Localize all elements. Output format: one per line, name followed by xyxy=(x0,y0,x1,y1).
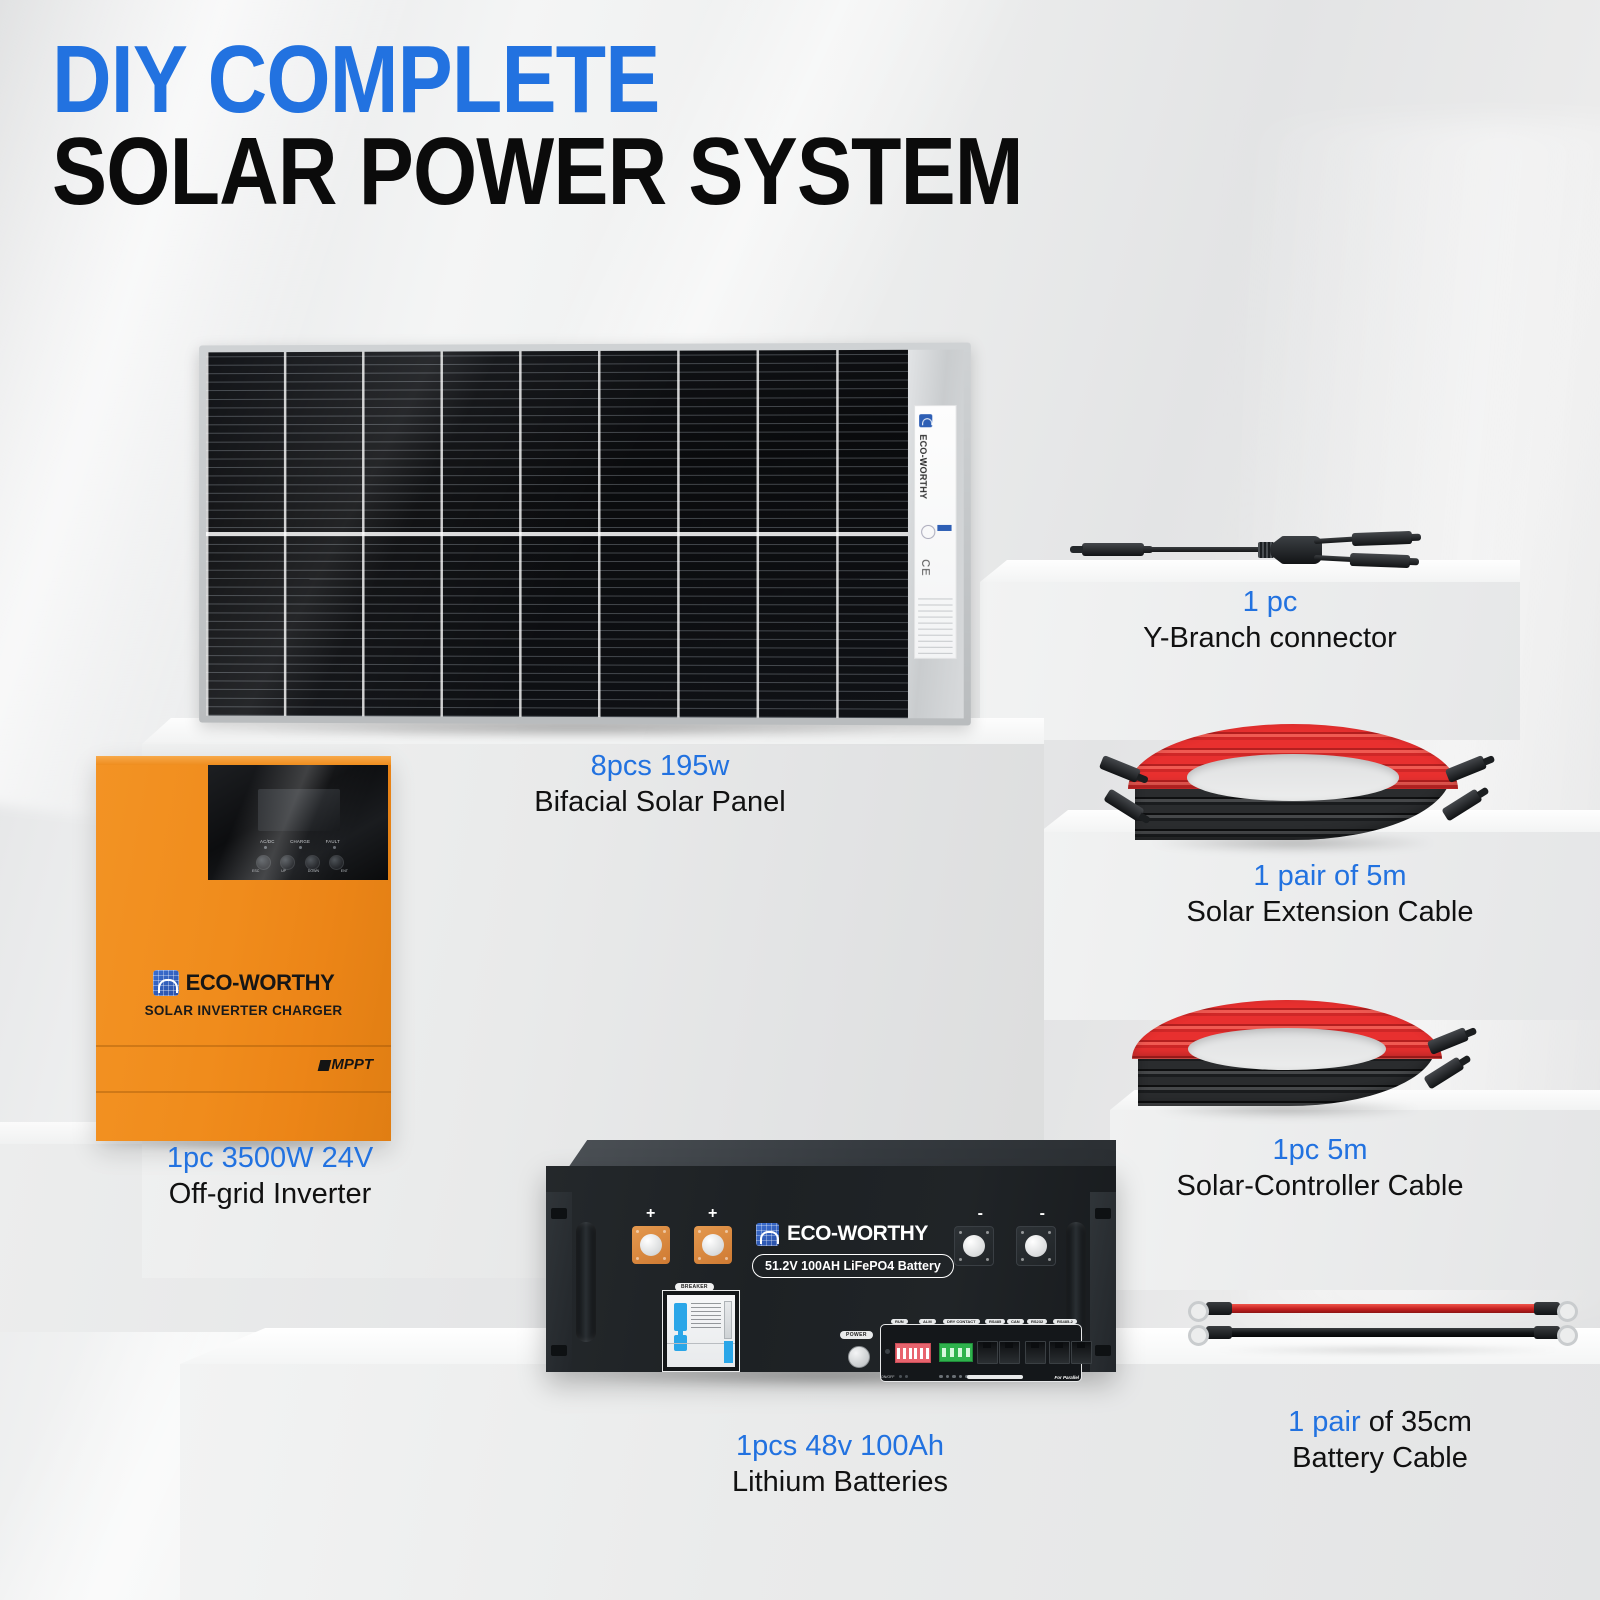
caption-extension-cable: 1 pair of 5m Solar Extension Cable xyxy=(1110,858,1550,931)
cable-lug-icon xyxy=(1534,1326,1560,1339)
caption-battery-cable: 1 pair of 35cm Battery Cable xyxy=(1180,1404,1580,1477)
port-label-rs485: RS485 xyxy=(985,1319,1005,1324)
label-blue-bar xyxy=(937,525,951,531)
terminal-screw xyxy=(959,1231,962,1234)
terminal-screw xyxy=(725,1257,728,1260)
inverter-subtitle: SOLAR INVERTER CHARGER xyxy=(96,1003,391,1018)
inverter-display-panel: AC/DC CHARGE FAULT ESC UP xyxy=(208,765,388,880)
caption-name: Bifacial Solar Panel xyxy=(440,784,880,820)
inverter-top-edge xyxy=(96,756,391,765)
inverter-seam xyxy=(96,1045,391,1047)
battery-terminal-negative-2[interactable] xyxy=(1016,1226,1056,1266)
led-digit xyxy=(950,1348,954,1357)
solar-panel-product: ECO-WORTHY CE xyxy=(196,344,968,724)
terminal-screw xyxy=(663,1257,666,1260)
inverter-body: AC/DC CHARGE FAULT ESC UP xyxy=(96,756,391,1141)
inverter-seam xyxy=(96,1091,391,1093)
solar-panel-frame: ECO-WORTHY CE xyxy=(199,343,971,726)
title-line-1: DIY COMPLETE xyxy=(52,36,1023,124)
cable-lug-icon xyxy=(1206,1302,1232,1315)
terminal-screw xyxy=(663,1230,666,1233)
dip-switch[interactable] xyxy=(920,1348,923,1359)
battery-front-face: + + - - xyxy=(546,1166,1116,1372)
terminal-sign-negative: - xyxy=(978,1206,983,1222)
terminal-screw xyxy=(698,1230,701,1233)
caption-quantity: 1pc 5m xyxy=(1100,1132,1540,1168)
terminal-screw xyxy=(1021,1231,1024,1234)
battery-brand-name: ECO-WORTHY xyxy=(787,1222,928,1246)
caption-quantity: 1 pair of 35cm xyxy=(1180,1404,1580,1440)
breaker-blue-tab xyxy=(724,1341,733,1363)
inverter-brand-row: ECO-WORTHY xyxy=(96,970,391,996)
battery-control-panel: RUN ALM DRY CONTACT RS485 CAN RS232 RS48… xyxy=(880,1324,1082,1382)
rj45-port[interactable] xyxy=(1049,1341,1070,1364)
battery-power-switch[interactable]: POWER xyxy=(848,1346,870,1368)
indicator-dot xyxy=(899,1375,902,1378)
caption-name: Battery Cable xyxy=(1180,1440,1580,1476)
title-line-2: SOLAR POWER SYSTEM xyxy=(52,128,1023,216)
ring-terminal-icon xyxy=(1557,1301,1578,1322)
solar-panel-label-brand: ECO-WORTHY xyxy=(918,434,928,499)
solar-panel-spec-label: ECO-WORTHY CE xyxy=(914,405,957,659)
caption-name: Y-Branch connector xyxy=(1050,620,1490,656)
inverter-brand-name: ECO-WORTHY xyxy=(186,970,335,996)
coil-center-opening xyxy=(1187,754,1398,800)
dip-switch-bank[interactable] xyxy=(895,1343,931,1363)
caption-name: Solar Extension Cable xyxy=(1110,894,1550,930)
terminal-screw xyxy=(636,1230,639,1233)
rj45-port[interactable] xyxy=(999,1341,1020,1364)
terminal-screw xyxy=(1048,1258,1051,1261)
terminal-cap xyxy=(963,1235,985,1257)
solar-panel-sun-icon xyxy=(153,970,179,996)
terminal-cap xyxy=(640,1234,662,1256)
label-certification-circle-icon xyxy=(921,525,935,539)
mppt-badge: MPPT xyxy=(331,1056,373,1073)
inverter-branding: ECO-WORTHY SOLAR INVERTER CHARGER xyxy=(96,970,391,1018)
terminal-sign-positive: + xyxy=(708,1206,717,1222)
ce-mark-icon: CE xyxy=(919,559,931,576)
caption-quantity: 1pc 3500W 24V xyxy=(60,1140,480,1176)
onoff-indicator xyxy=(885,1349,890,1354)
battery-rack-ear-right xyxy=(1090,1192,1116,1372)
led-segment-display xyxy=(939,1343,973,1362)
caption-inverter: 1pc 3500W 24V Off-grid Inverter xyxy=(60,1140,480,1213)
indicator-dot xyxy=(905,1375,908,1378)
rack-screw-slot xyxy=(1095,1208,1111,1219)
ring-terminal-icon xyxy=(1557,1325,1578,1346)
dip-switch[interactable] xyxy=(926,1348,929,1359)
inverter-display-glare xyxy=(208,765,388,880)
solar-panel-cell-area xyxy=(206,350,908,718)
terminal-cap xyxy=(702,1234,724,1256)
dip-switch[interactable] xyxy=(909,1348,912,1359)
label-fine-print xyxy=(918,597,952,653)
terminal-screw xyxy=(959,1258,962,1261)
terminal-screw xyxy=(725,1230,728,1233)
battery-cable-shadow xyxy=(1208,1346,1567,1354)
led-digit xyxy=(966,1348,970,1357)
rj45-port[interactable] xyxy=(977,1341,998,1364)
battery-cable-red xyxy=(1212,1304,1554,1313)
terminal-screw xyxy=(986,1258,989,1261)
for-parallel-label: For Parallel xyxy=(1054,1375,1079,1380)
terminal-sign-positive: + xyxy=(646,1206,655,1222)
soc-led xyxy=(959,1375,963,1379)
ring-terminal-icon xyxy=(1188,1301,1209,1322)
led-digit xyxy=(958,1348,962,1357)
battery-breaker-window[interactable]: BREAKER xyxy=(662,1290,740,1372)
caption-name: Off-grid Inverter xyxy=(60,1176,480,1212)
mc4-connector-icon xyxy=(1352,531,1412,546)
battery-brand-row: ECO-WORTHY xyxy=(756,1222,928,1246)
rack-screw-slot xyxy=(1095,1345,1111,1356)
led-digit xyxy=(942,1348,946,1357)
soc-led xyxy=(946,1375,950,1379)
port-label-rs232: RS232 xyxy=(1027,1319,1047,1324)
rj45-port[interactable] xyxy=(1025,1341,1046,1364)
port-label-can: CAN xyxy=(1007,1319,1024,1324)
breaker-label: BREAKER xyxy=(675,1283,714,1291)
solar-panel-glare xyxy=(206,350,908,718)
terminal-screw xyxy=(1048,1231,1051,1234)
cable-lug-icon xyxy=(1534,1302,1560,1315)
port-label-dry-contact: DRY CONTACT xyxy=(943,1319,980,1324)
caption-name: Lithium Batteries xyxy=(620,1464,1060,1500)
caption-quantity: 1 pair of 5m xyxy=(1110,858,1550,894)
breaker-print xyxy=(691,1302,721,1328)
terminal-screw xyxy=(636,1257,639,1260)
terminal-sign-negative: - xyxy=(1040,1206,1045,1222)
battery-cable-product xyxy=(1188,1296,1578,1348)
cable-lug-icon xyxy=(1206,1326,1232,1339)
caption-quantity-plain: of 35cm xyxy=(1361,1406,1472,1438)
caption-solar-panel: 8pcs 195w Bifacial Solar Panel xyxy=(440,748,880,821)
battery-rack-ear-left xyxy=(546,1192,572,1372)
caption-controller-cable: 1pc 5m Solar-Controller Cable xyxy=(1100,1132,1540,1205)
battery-terminal-positive-1[interactable] xyxy=(632,1226,670,1264)
port-label-run: RUN xyxy=(891,1319,908,1324)
solar-extension-cable-product xyxy=(1128,724,1458,840)
rack-screw-slot xyxy=(551,1345,567,1356)
caption-quantity: 8pcs 195w xyxy=(440,748,880,784)
port-label-alm: ALM xyxy=(919,1319,936,1324)
battery-top-surface xyxy=(568,1140,1116,1168)
caption-quantity: 1pcs 48v 100Ah xyxy=(620,1428,1060,1464)
dip-switch[interactable] xyxy=(897,1348,900,1359)
soc-led xyxy=(939,1375,943,1379)
battery-handle-left[interactable] xyxy=(576,1222,596,1342)
y-branch-connector-product xyxy=(1062,530,1402,570)
breaker-inner xyxy=(667,1295,735,1367)
solar-controller-cable-product xyxy=(1132,1000,1442,1106)
ring-terminal-icon xyxy=(1188,1325,1209,1346)
power-label: POWER xyxy=(840,1331,873,1339)
caption-name: Solar-Controller Cable xyxy=(1100,1168,1540,1204)
terminal-screw xyxy=(698,1257,701,1260)
mc4-connector-icon xyxy=(1350,553,1410,568)
lithium-battery-product: + + - - xyxy=(546,1140,1116,1372)
caption-quantity-accent: 1 pair xyxy=(1288,1406,1361,1438)
port-label-rs485-2: RS485-2 xyxy=(1053,1319,1077,1324)
solar-panel-sun-icon xyxy=(756,1223,779,1246)
caption-quantity: 1 pc xyxy=(1050,584,1490,620)
soc-led xyxy=(952,1375,956,1379)
power-knob[interactable] xyxy=(848,1346,870,1368)
terminal-cap xyxy=(1025,1235,1047,1257)
off-grid-inverter-product: AC/DC CHARGE FAULT ESC UP xyxy=(96,756,391,1141)
caption-battery: 1pcs 48v 100Ah Lithium Batteries xyxy=(620,1428,1060,1501)
terminal-screw xyxy=(1021,1258,1024,1261)
brand-logo-icon xyxy=(919,414,932,427)
battery-terminal-negative-1[interactable] xyxy=(954,1226,994,1266)
breaker-switch-lever[interactable] xyxy=(674,1303,687,1331)
dip-switch[interactable] xyxy=(903,1348,906,1359)
battery-terminal-positive-2[interactable] xyxy=(694,1226,732,1264)
battery-spec-badge: 51.2V 100AH LiFePO4 Battery xyxy=(752,1254,954,1278)
onoff-label: ON/OFF xyxy=(881,1375,895,1379)
infographic-canvas: DIY COMPLETE SOLAR POWER SYSTEM xyxy=(0,0,1600,1600)
indicator-dots xyxy=(899,1375,908,1378)
breaker-side-bar xyxy=(724,1301,732,1339)
rj45-port[interactable] xyxy=(1071,1341,1092,1364)
coil-center-opening xyxy=(1188,1028,1386,1070)
terminal-screw xyxy=(986,1231,989,1234)
battery-cable-black xyxy=(1212,1328,1554,1337)
dip-switch[interactable] xyxy=(914,1348,917,1359)
panel-white-strip xyxy=(967,1375,1023,1379)
page-title: DIY COMPLETE SOLAR POWER SYSTEM xyxy=(52,36,1181,217)
mc4-connector-icon xyxy=(1082,543,1144,556)
caption-y-branch: 1 pc Y-Branch connector xyxy=(1050,584,1490,657)
rack-screw-slot xyxy=(551,1208,567,1219)
